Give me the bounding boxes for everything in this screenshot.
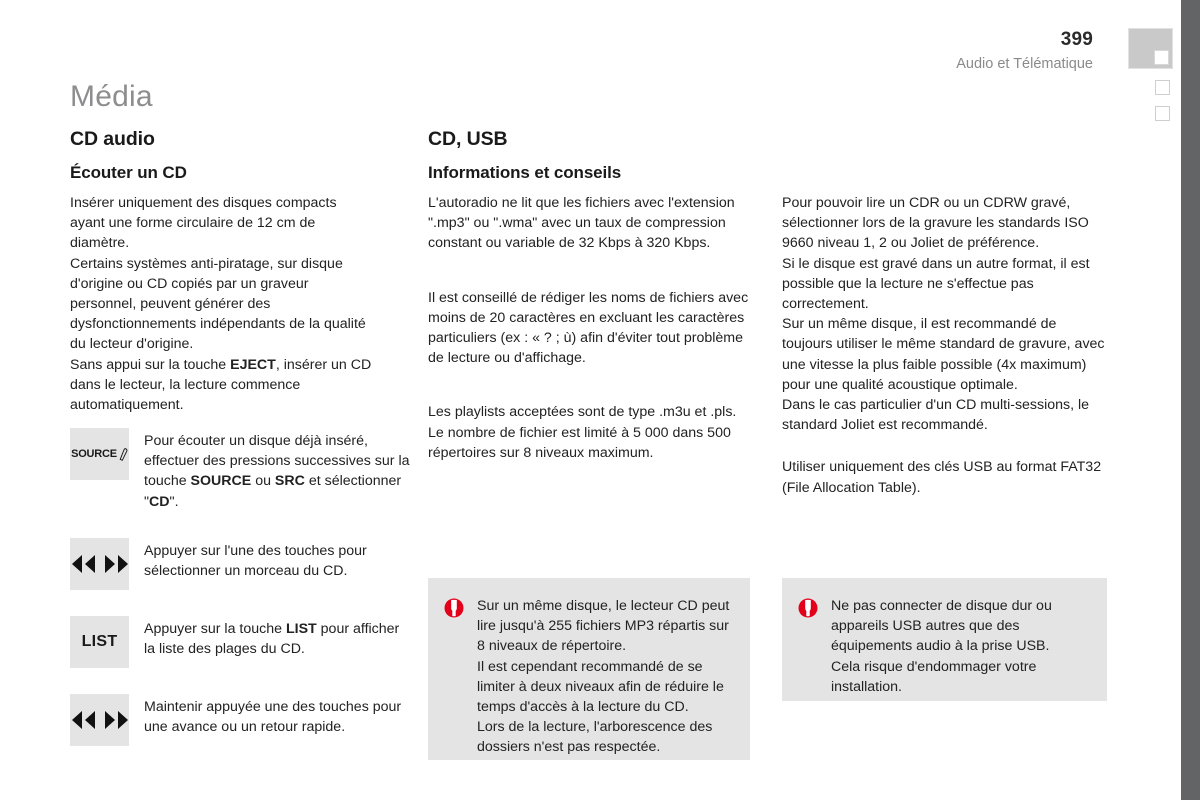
key-row-source-text: Pour écouter un disque déjà inséré, effe… (144, 428, 410, 512)
paragraph: Pour pouvoir lire un CDR ou un CDRW grav… (782, 193, 1107, 435)
warning-icon (798, 598, 818, 618)
list-button-label: LIST (82, 633, 118, 651)
key-instruction-list: SOURCE Pour écouter un disque déjà insér… (70, 428, 410, 772)
warning-icon (444, 598, 464, 618)
paragraph-eject: Sans appui sur la touche EJECT, insérer … (70, 355, 375, 416)
paragraph: Certains systèmes anti-piratage, sur dis… (70, 254, 375, 355)
left-column-body: Insérer uniquement des disques compacts … (70, 193, 375, 415)
warning-box-middle: Sur un même disque, le lecteur CD peut l… (428, 578, 750, 760)
rewind-forward-icon (72, 711, 128, 729)
forward-triangle-2-icon (118, 711, 128, 729)
middle-column-body: L'autoradio ne lit que les fichiers avec… (428, 193, 750, 463)
chapter-title: Média (70, 80, 153, 114)
thumb-tab-active-icon (1128, 28, 1173, 69)
middle-column-headings: CD, USB Informations et conseils (428, 128, 750, 183)
list-text-pre: Appuyer sur la touche (144, 621, 286, 637)
warning-text-right: Ne pas connecter de disque dur ou appare… (831, 596, 1087, 681)
forward-triangle-2-icon (118, 555, 128, 573)
manual-page: 399 Audio et Télématique Média CD audio … (0, 0, 1181, 800)
track-skip-button-icon[interactable] (70, 538, 129, 590)
forward-triangle-1-icon (105, 555, 115, 573)
rewind-triangle-1-icon (72, 711, 82, 729)
page-edge-rail (1181, 0, 1200, 800)
paragraph: Insérer uniquement des disques compacts … (70, 193, 375, 254)
right-column-body: Pour pouvoir lire un CDR ou un CDRW grav… (782, 193, 1107, 498)
thumb-tab-icon-2 (1155, 80, 1170, 95)
source-key-1: SOURCE (191, 473, 252, 489)
key-row-track-skip: Appuyer sur l'une des touches pour sélec… (70, 538, 410, 590)
section-title: Audio et Télématique (956, 54, 1093, 74)
paragraph: Utiliser uniquement des clés USB au form… (782, 457, 1107, 497)
page-header: 399 Audio et Télématique (956, 30, 1093, 74)
rewind-triangle-1-icon (72, 555, 82, 573)
middle-heading-1: CD, USB (428, 128, 750, 151)
key-row-list-text: Appuyer sur la touche LIST pour afficher… (144, 616, 410, 659)
left-heading-1: CD audio (70, 128, 400, 151)
rewind-triangle-2-icon (85, 555, 95, 573)
paragraph: L'autoradio ne lit que les fichiers avec… (428, 193, 750, 254)
list-key-1: LIST (286, 621, 317, 637)
key-row-fast-forward: Maintenir appuyée une des touches pour u… (70, 694, 410, 746)
pen-icon (118, 448, 128, 461)
fast-forward-rewind-button-icon[interactable] (70, 694, 129, 746)
warning-box-right: Ne pas connecter de disque dur ou appare… (782, 578, 1107, 701)
key-row-fast-forward-text: Maintenir appuyée une des touches pour u… (144, 694, 410, 737)
eject-text-pre: Sans appui sur la touche (70, 357, 230, 373)
source-text-mid: ou (251, 473, 275, 489)
rewind-triangle-2-icon (85, 711, 95, 729)
source-key-2: SRC (275, 473, 305, 489)
left-column-headings: CD audio Écouter un CD (70, 128, 400, 183)
paragraph: Les playlists acceptées sont de type .m3… (428, 402, 750, 463)
rewind-forward-icon (72, 555, 128, 573)
left-heading-2: Écouter un CD (70, 163, 400, 183)
source-button-label: SOURCE (71, 448, 117, 460)
source-button-icon[interactable]: SOURCE (70, 428, 129, 480)
warning-text-middle: Sur un même disque, le lecteur CD peut l… (477, 596, 730, 740)
source-text-end: ". (170, 494, 179, 510)
source-key-3: CD (149, 494, 170, 510)
middle-heading-2: Informations et conseils (428, 163, 750, 183)
list-button-icon[interactable]: LIST (70, 616, 129, 668)
thumb-tab-icon-3 (1155, 106, 1170, 121)
forward-triangle-1-icon (105, 711, 115, 729)
key-row-source: SOURCE Pour écouter un disque déjà insér… (70, 428, 410, 512)
thumb-tab-active-inner (1154, 50, 1169, 65)
eject-key-label: EJECT (230, 357, 276, 373)
thumb-index-tabs (1128, 28, 1174, 121)
key-row-list: LIST Appuyer sur la touche LIST pour aff… (70, 616, 410, 668)
paragraph: Il est conseillé de rédiger les noms de … (428, 288, 750, 369)
page-number: 399 (956, 30, 1093, 50)
key-row-track-skip-text: Appuyer sur l'une des touches pour sélec… (144, 538, 410, 581)
